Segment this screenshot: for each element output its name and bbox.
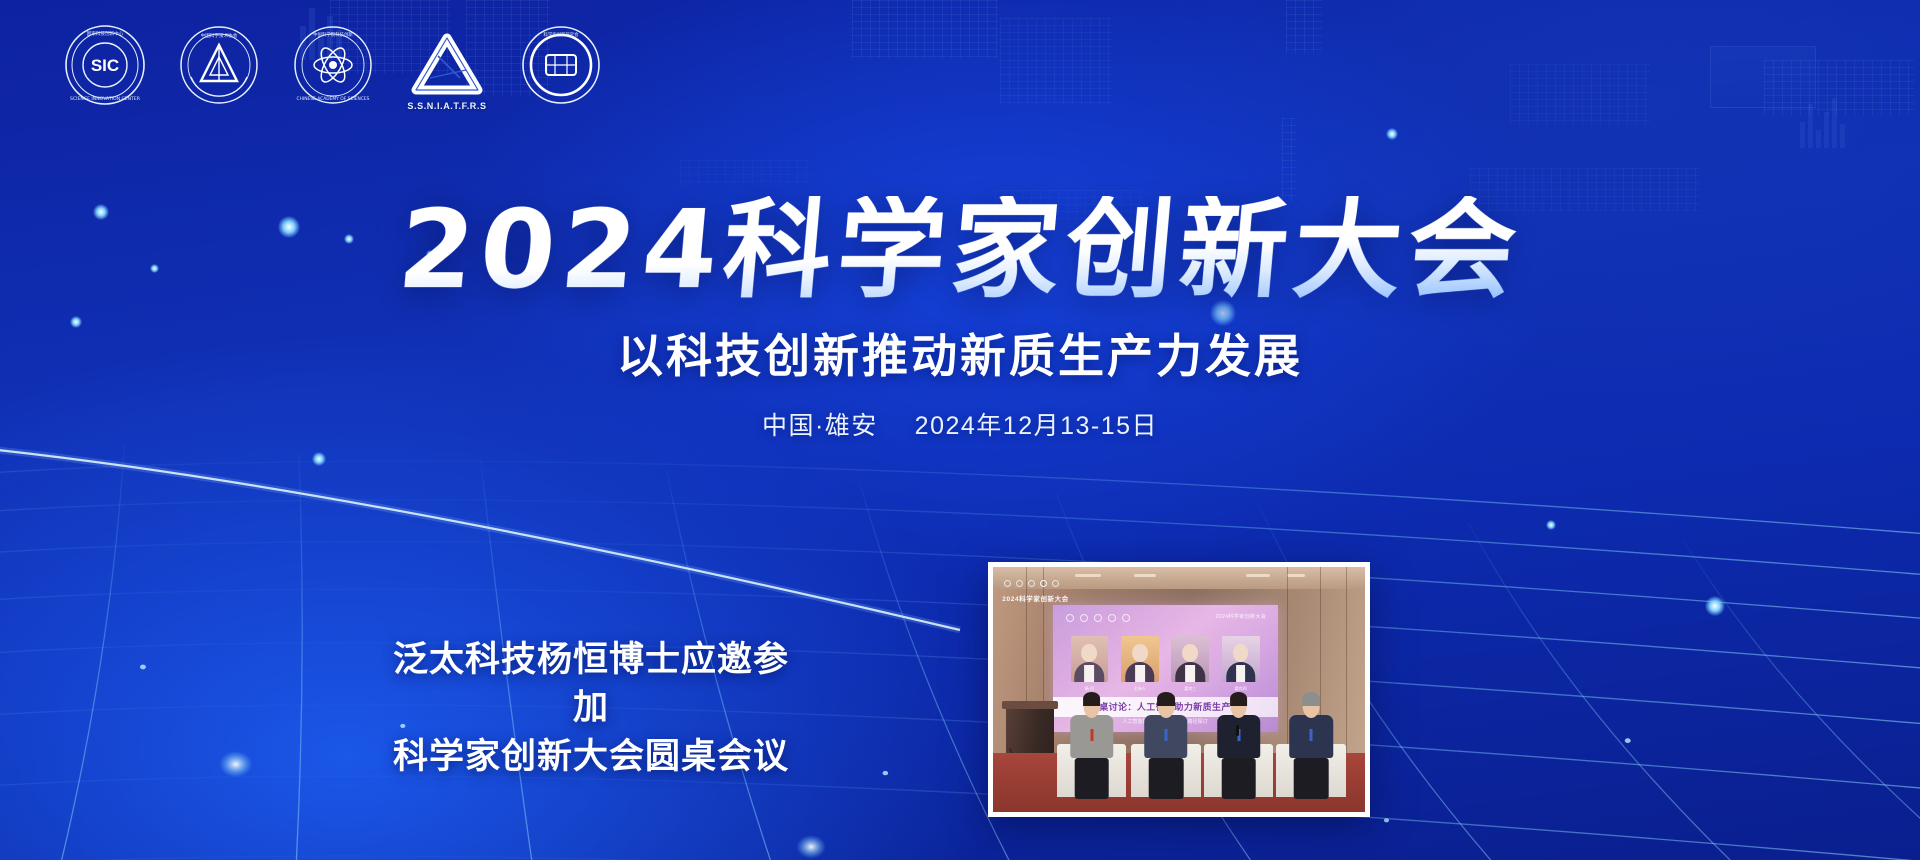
page-title: 2024科学家创新大会 xyxy=(394,196,1526,306)
date-range-text: 2024年12月13-15日 xyxy=(915,412,1158,440)
photo-screen-logo-row xyxy=(1066,614,1130,622)
svg-text:中国科学院科技创新: 中国科学院科技创新 xyxy=(313,31,353,38)
photo-ceiling-lamp xyxy=(1246,574,1270,577)
bg-data-grid-3 xyxy=(852,0,998,58)
bg-sparkle xyxy=(312,452,326,466)
triangle-institute-logo-caption: S.S.N.I.A.T.F.R.S xyxy=(404,101,490,111)
bg-data-grid-11 xyxy=(680,160,810,186)
bg-sparkle xyxy=(1386,128,1398,140)
bg-sparkle xyxy=(1705,596,1725,616)
photo-room-banner-icons xyxy=(1004,580,1059,587)
photo-panelist xyxy=(1211,694,1267,797)
svg-text:SCIENCE INNOVATION CENTER: SCIENCE INNOVATION CENTER xyxy=(70,96,141,102)
svg-text:SIC: SIC xyxy=(91,56,119,75)
photo-panelist xyxy=(1138,694,1194,797)
photo-screen-speaker-row: 杨 恒 主持人 嘉宾三 嘉宾 xyxy=(1071,636,1260,692)
atom-emblem-logo: 中国科学院科技创新 CHINESE ACADEMY OF SCIENCES xyxy=(290,22,376,108)
svg-text:科学家创新研究会: 科学家创新研究会 xyxy=(543,31,579,38)
caption-line-2: 科学家创新大会圆桌会议 xyxy=(386,733,796,781)
photo-wall-panel xyxy=(1346,567,1347,753)
triangle-institute-logo: S.S.N.I.A.T.F.R.S xyxy=(404,22,490,108)
date-location-line: 中国·雄安 2024年12月13-15日 xyxy=(0,406,1920,442)
bg-sparkle xyxy=(1546,520,1556,530)
photo-panelist xyxy=(1283,694,1339,797)
photo-speaker-name: 嘉宾三 xyxy=(1171,686,1209,692)
photo-handheld-microphone-icon xyxy=(1236,725,1239,736)
background-mesh-grid xyxy=(0,378,1920,860)
event-caption: 泛太科技杨恒博士应邀参加 科学家创新大会圆桌会议 xyxy=(386,636,796,781)
page-subtitle: 以科技创新推动新质生产力发展 xyxy=(0,320,1920,386)
svg-text:CHINESE ACADEMY OF SCIENCES: CHINESE ACADEMY OF SCIENCES xyxy=(297,96,370,102)
bg-bar-cluster-right xyxy=(1800,92,1845,148)
caption-line-1: 泛太科技杨恒博士应邀参加 xyxy=(386,636,796,733)
photo-ceiling-lamp xyxy=(1287,574,1305,577)
photo-speaker-name: 嘉宾四 xyxy=(1222,686,1260,692)
photo-speaker-card: 主持人 xyxy=(1121,636,1159,692)
svg-text:中国科学技术协会: 中国科学技术协会 xyxy=(201,32,238,39)
conference-poster: SIC 国家科技创新中心 SCIENCE INNOVATION CENTER 中… xyxy=(0,0,1920,860)
bg-data-grid-5 xyxy=(1286,0,1322,54)
photo-ceiling-lamp xyxy=(1134,574,1156,577)
photo-speaker-name: 杨 恒 xyxy=(1071,686,1109,692)
triangle-shield-emblem-logo: 中国科学技术协会 xyxy=(176,22,262,108)
organizer-logo-row: SIC 国家科技创新中心 SCIENCE INNOVATION CENTER 中… xyxy=(62,22,604,108)
roundtable-panel-photo[interactable]: 2024科学家创新大会 2024科学家创新大会 杨 恒 xyxy=(988,562,1370,817)
photo-room-banner: 2024科学家创新大会 xyxy=(1002,593,1069,603)
circular-academy-emblem-logo: 科学家创新研究会 xyxy=(518,22,604,108)
location-text: 中国·雄安 xyxy=(762,412,878,440)
bg-data-grid-8 xyxy=(1510,64,1650,126)
title-block: 2024科学家创新大会 以科技创新推动新质生产力发展 中国·雄安 2024年12… xyxy=(0,196,1920,442)
svg-text:国家科技创新中心: 国家科技创新中心 xyxy=(87,30,124,37)
photo-speaker-card: 嘉宾四 xyxy=(1222,636,1260,692)
photo-speaker-card: 嘉宾三 xyxy=(1171,636,1209,692)
photo-panelist xyxy=(1064,694,1120,797)
bg-data-grid-4 xyxy=(1000,18,1112,104)
sic-emblem-logo: SIC 国家科技创新中心 SCIENCE INNOVATION CENTER xyxy=(62,22,148,108)
photo-speaker-card: 杨 恒 xyxy=(1071,636,1109,692)
photo-room-banner-text: 2024科学家创新大会 xyxy=(1002,596,1069,603)
photo-ceiling-lamp xyxy=(1075,574,1101,577)
photo-speaker-name: 主持人 xyxy=(1121,686,1159,692)
photo-screen-brand: 2024科学家创新大会 xyxy=(1216,613,1267,620)
photo-scene: 2024科学家创新大会 2024科学家创新大会 杨 恒 xyxy=(993,567,1365,812)
